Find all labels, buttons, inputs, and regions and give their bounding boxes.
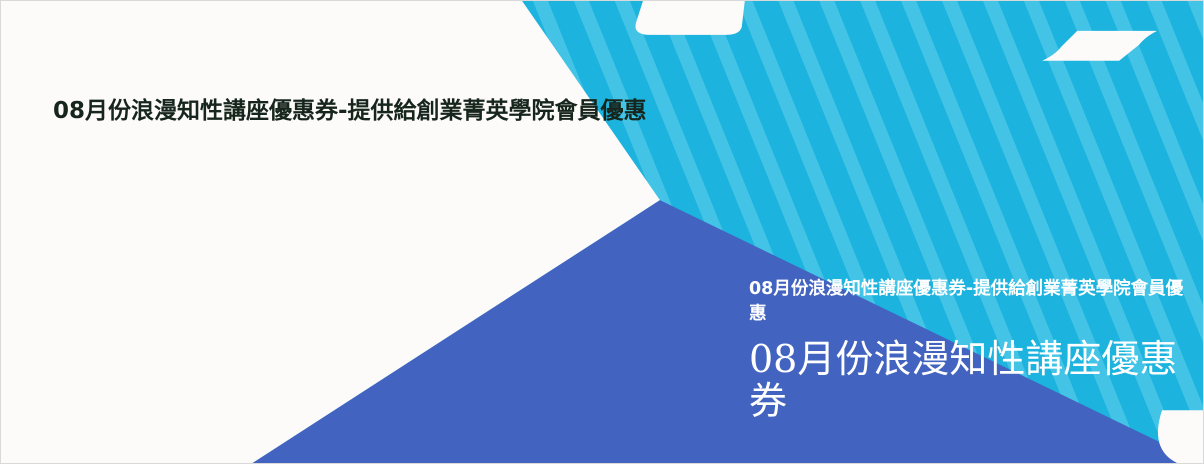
right-subtitle: 08月份浪漫知性講座優惠券-提供給創業菁英學院會員優惠 bbox=[749, 277, 1189, 328]
right-headline: 08月份浪漫知性講座優惠券 bbox=[749, 338, 1189, 423]
top-parallelogram-notch bbox=[635, 1, 744, 35]
right-text-block: 08月份浪漫知性講座優惠券-提供給創業菁英學院會員優惠 08月份浪漫知性講座優惠… bbox=[749, 277, 1189, 423]
slide-canvas: 08月份浪漫知性講座優惠券-提供給創業菁英學院會員優惠 08月份浪漫知性講座優惠… bbox=[0, 0, 1204, 464]
page-title: 08月份浪漫知性講座優惠券-提供給創業菁英學院會員優惠 bbox=[53, 97, 693, 126]
